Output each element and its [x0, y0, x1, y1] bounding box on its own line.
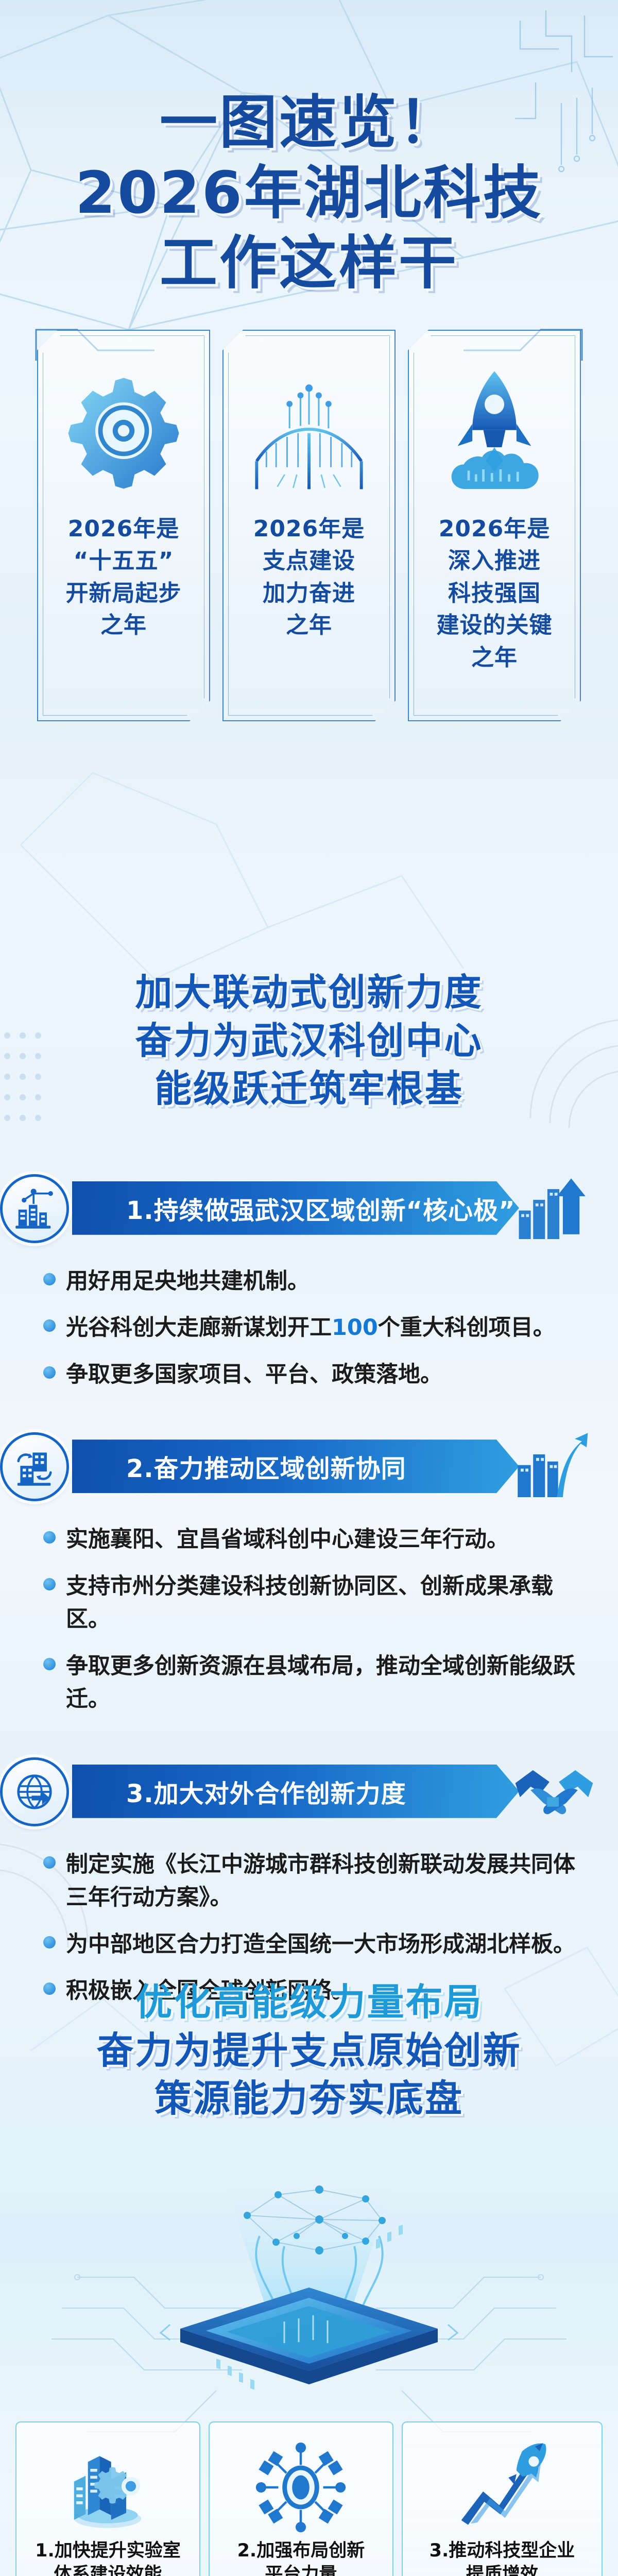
hero-card-3-line1: 2026年是 [437, 513, 553, 545]
bullet-text: 支持市州分类建设科技创新协同区、创新成果承载区。 [66, 1573, 553, 1633]
hero-card-3-line4: 建设的关键 [437, 609, 553, 641]
column-3-title-line2: 提质增效 [411, 2563, 593, 2576]
column-1-title-line2: 体系建设效能 [25, 2563, 191, 2576]
section-one-item-1: 1.持续做强武汉区域创新“核心极” [0, 1170, 618, 1392]
hero-card-2-line1: 2026年是 [253, 513, 365, 545]
rocket-icon [435, 348, 554, 513]
title-line-3: 工作这样干 [0, 228, 618, 299]
hero-card-1-line2: “十五五” [66, 545, 182, 577]
bullet-item: 实施襄阳、宜昌省域科创中心建设三年行动。 [43, 1523, 579, 1556]
hero-card-2-line3: 加力奋进 [253, 578, 365, 609]
column-1: 1.加快提升实验室 体系建设效能 推动汉江国家实验室高水 [15, 2421, 200, 2576]
bullet-text: 制定实施《长江中游城市群科技创新联动发展共同体三年行动方案》。 [66, 1852, 575, 1911]
hero-card-1-line1: 2026年是 [66, 513, 182, 545]
section-two-heading-line1: 优化高能级力量布局 [0, 1978, 618, 2027]
bullet-dot-icon [43, 1658, 56, 1670]
section-one-item-1-bullets: 用好用足央地共建机制。 光谷科创大走廊新谋划开工100个重大科创项目。 争取更多… [43, 1265, 579, 1392]
column-3: 3.推动科技型企业 提质增效 力争 新增高新技术企业 5000 家 [402, 2421, 603, 2576]
bullet-dot-icon [43, 1578, 56, 1590]
section-one-heading-line2: 奋力为武汉科创中心 [0, 1017, 618, 1065]
bullet-dot-icon [43, 1273, 56, 1285]
bullet-text: 光谷科创大走廊新谋划开工 [66, 1315, 332, 1341]
section-two-heading: 优化高能级力量布局 奋力为提升支点原始创新 策源能力夯实底盘 [0, 1978, 618, 2123]
growth-rocket-icon [411, 2436, 593, 2539]
bullet-text: 争取更多国家项目、平台、政策落地。 [66, 1362, 442, 1387]
title-line-2: 2026年湖北科技 [0, 158, 618, 229]
section-two-heading-line2: 奋力为提升支点原始创新 [0, 2027, 618, 2075]
bullet-text: 实施襄阳、宜昌省域科创中心建设三年行动。 [66, 1527, 509, 1552]
section-one-item-3-banner: 3.加大对外合作创新力度 [72, 1765, 519, 1818]
hero-card-3-text: 2026年是 深入推进 科技强国 建设的关键 之年 [430, 513, 560, 674]
section-one-item-2-banner: 2.奋力推动区域创新协同 [72, 1439, 519, 1493]
hero-card-3-line5: 之年 [437, 642, 553, 674]
hero-card-1-line3: 开新局起步 [66, 578, 182, 609]
bullet-text: 争取更多创新资源在县域布局，推动全域创新能级跃迁。 [66, 1653, 575, 1713]
hero-card-list: 2026年是 “十五五” 开新局起步 之年 [37, 330, 581, 721]
chart-up-icon [513, 1172, 590, 1244]
bullet-highlight: 100 [332, 1315, 378, 1341]
section-two-columns: 1.加快提升实验室 体系建设效能 推动汉江国家实验室高水 [15, 2421, 603, 2576]
column-3-title-line1: 3.推动科技型企业 [411, 2539, 593, 2563]
section-two-heading-line3: 策源能力夯实底盘 [0, 2075, 618, 2123]
hero-card-3-line2: 深入推进 [437, 545, 553, 577]
hero-card-1: 2026年是 “十五五” 开新局起步 之年 [37, 330, 210, 721]
bullet-text: 用好用足央地共建机制。 [66, 1268, 310, 1294]
bullet-dot-icon [43, 1936, 56, 1948]
column-1-title-line1: 1.加快提升实验室 [25, 2539, 191, 2563]
cpu-chip-network-icon [149, 2159, 469, 2403]
section-one-item-1-banner: 1.持续做强武汉区域创新“核心极” [72, 1181, 519, 1235]
section-one-item-2-bullets: 实施襄阳、宜昌省域科创中心建设三年行动。 支持市州分类建设科技创新协同区、创新成… [43, 1523, 579, 1716]
infographic-page: 一图速览！ 2026年湖北科技 工作这样干 [0, 0, 618, 2576]
bullet-item: 争取更多创新资源在县域布局，推动全域创新能级跃迁。 [43, 1650, 579, 1716]
network-hub-icon [218, 2436, 384, 2539]
globe-arrow-icon [0, 1757, 69, 1826]
hero-card-1-line4: 之年 [66, 609, 182, 641]
lab-building-gear-icon [25, 2436, 191, 2539]
column-2-title: 2.加强布局创新 平台力量 [218, 2539, 384, 2576]
hero-card-2-line2: 支点建设 [253, 545, 365, 577]
bridge-icon [242, 348, 376, 513]
bullet-item: 制定实施《长江中游城市群科技创新联动发展共同体三年行动方案》。 [43, 1848, 579, 1914]
bullet-item: 光谷科创大走廊新谋划开工100个重大科创项目。 [43, 1311, 579, 1345]
column-1-title: 1.加快提升实验室 体系建设效能 [25, 2539, 191, 2576]
column-2: 2.加强布局创新 平台力量 [209, 2421, 393, 2576]
city-crane-icon [0, 1174, 69, 1243]
section-one-item-2: 2.奋力推动区域创新协同 [0, 1428, 618, 1716]
section-one-item-3: 3.加大对外合作创新力度 制定实施《长江中游城市群科技创新联动发展共同体三年行动… [0, 1753, 618, 2008]
section-one-item-2-title: 2.奋力推动区域创新协同 [72, 1448, 406, 1484]
hero-card-2-text: 2026年是 支点建设 加力奋进 之年 [246, 513, 372, 642]
page-title: 一图速览！ 2026年湖北科技 工作这样干 [0, 88, 618, 299]
hero-card-2-line4: 之年 [253, 609, 365, 641]
bullet-dot-icon [43, 1366, 56, 1379]
section-one-heading: 加大联动式创新力度 奋力为武汉科创中心 能级跃迁筑牢根基 [0, 969, 618, 1113]
buildings-arrow-icon [513, 1430, 590, 1502]
section-one-item-1-title: 1.持续做强武汉区域创新“核心极” [72, 1190, 516, 1226]
hero-card-3: 2026年是 深入推进 科技强国 建设的关键 之年 [408, 330, 581, 721]
title-line-1: 一图速览！ [0, 88, 618, 158]
section-one: 加大联动式创新力度 奋力为武汉科创中心 能级跃迁筑牢根基 [0, 969, 618, 2021]
section-one-heading-line3: 能级跃迁筑牢根基 [0, 1065, 618, 1113]
bullet-item: 用好用足央地共建机制。 [43, 1265, 579, 1298]
bullet-item: 支持市州分类建设科技创新协同区、创新成果承载区。 [43, 1570, 579, 1636]
hero-card-1-text: 2026年是 “十五五” 开新局起步 之年 [59, 513, 189, 642]
gear-icon [59, 348, 188, 513]
handshake-icon [513, 1755, 590, 1827]
hero-card-2: 2026年是 支点建设 加力奋进 之年 [222, 330, 396, 721]
bullet-dot-icon [43, 1856, 56, 1869]
bullet-text: 为中部地区合力打造全国统一大市场形成湖北样板。 [66, 1931, 575, 1957]
section-one-heading-line1: 加大联动式创新力度 [0, 969, 618, 1017]
column-2-title-line2: 平台力量 [218, 2563, 384, 2576]
hero-card-3-line3: 科技强国 [437, 578, 553, 609]
hero-section: 一图速览！ 2026年湖北科技 工作这样干 [0, 0, 618, 773]
section-two: 优化高能级力量布局 奋力为提升支点原始创新 策源能力夯实底盘 [0, 1978, 618, 2123]
column-2-title-line1: 2.加强布局创新 [218, 2539, 384, 2563]
bullet-item: 争取更多国家项目、平台、政策落地。 [43, 1358, 579, 1392]
bullet-item: 为中部地区合力打造全国统一大市场形成湖北样板。 [43, 1928, 579, 1961]
bullet-dot-icon [43, 1319, 56, 1332]
bullet-text-tail: 个重大科创项目。 [378, 1315, 555, 1341]
column-3-title: 3.推动科技型企业 提质增效 [411, 2539, 593, 2576]
section-one-item-3-title: 3.加大对外合作创新力度 [72, 1773, 406, 1809]
bullet-dot-icon [43, 1531, 56, 1544]
buildings-sync-icon [0, 1432, 69, 1501]
